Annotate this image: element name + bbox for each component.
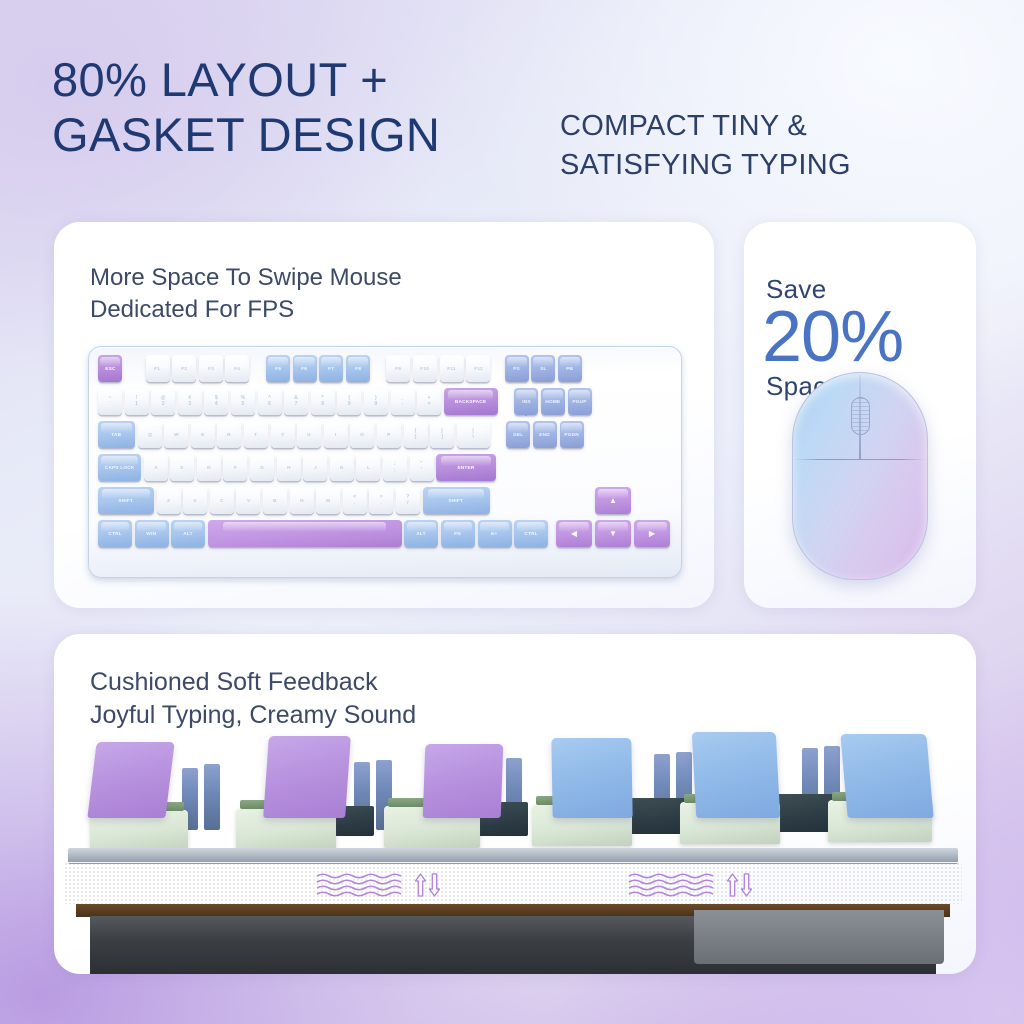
key-gap (492, 421, 506, 448)
key-ins[interactable]: INS (514, 388, 538, 415)
key-gap (372, 355, 386, 382)
key-legend: PS (513, 366, 520, 372)
key-legend: TAB (111, 432, 121, 438)
key-b[interactable]: B (263, 487, 287, 514)
arrow-up-icon: ▲ (609, 497, 617, 505)
key-f7[interactable]: F7 (319, 355, 343, 382)
key-alt[interactable]: ALT (171, 520, 205, 547)
save-percent-value: 20% (762, 307, 976, 369)
key-f10[interactable]: F10 (413, 355, 437, 382)
key-legend: R (228, 432, 232, 438)
key-legend: O (360, 432, 364, 438)
key-enter[interactable]: ENTER (436, 454, 496, 481)
key-legend: SHIFT (119, 498, 134, 504)
key-legend: &7 (294, 396, 298, 407)
keyboard-number-row: ~`!1@2#3$4%5^6&7*8(9)0_-+=BACKSPACEINSHO… (98, 388, 672, 415)
key-f11[interactable]: F11 (440, 355, 464, 382)
key-legend: >. (380, 495, 383, 506)
key-legend: E (201, 432, 204, 438)
key-legend: F12 (474, 366, 483, 372)
key-legend: D (207, 465, 211, 471)
key-legend: A (154, 465, 158, 471)
key-legend: ESC (105, 366, 115, 372)
key-f5[interactable]: F5 (266, 355, 290, 382)
key-k[interactable]: K (330, 454, 354, 481)
key-arrow-right[interactable]: ▶ (634, 520, 670, 547)
gasket-travel-arrows (414, 872, 441, 898)
key-i[interactable]: I (324, 421, 348, 448)
key-j[interactable]: J (303, 454, 327, 481)
key-esc[interactable]: ESC (98, 355, 122, 382)
key-legend: }] (441, 429, 443, 440)
key-ps[interactable]: PS (505, 355, 529, 382)
computer-mouse-icon (792, 372, 928, 580)
key-legend: W (174, 432, 179, 438)
keyboard-feature-card: More Space To Swipe Mouse Dedicated For … (54, 222, 714, 608)
keycap-purple-3 (423, 744, 504, 818)
key-legend: L (367, 465, 370, 471)
key-1[interactable]: !1 (125, 388, 149, 415)
key-legend: C (220, 498, 224, 504)
key-alt[interactable]: ALT (404, 520, 438, 547)
key-h[interactable]: H (277, 454, 301, 481)
keyboard-qwerty-row: TABQWERTYUIOP{[}]|\DELENDPGDN (98, 421, 672, 448)
key-legend: Z (167, 498, 170, 504)
key-blank[interactable]: }] (430, 421, 454, 448)
key-9[interactable]: (9 (337, 388, 361, 415)
key-5[interactable]: %5 (231, 388, 255, 415)
gasket-cushion-waves-icon (627, 872, 721, 898)
arrow-down-icon (428, 872, 441, 898)
key-blank[interactable]: "' (410, 454, 434, 481)
key-legend: F2 (181, 366, 187, 372)
key-pb[interactable]: PB (558, 355, 582, 382)
key-legend: V (247, 498, 250, 504)
key-l[interactable]: L (356, 454, 380, 481)
keycap-blue-2 (692, 732, 781, 818)
page-title: 80% LAYOUT + GASKET DESIGN (52, 52, 612, 163)
key-2[interactable]: @2 (151, 388, 175, 415)
key-legend: @2 (161, 396, 166, 407)
keycap-purple-1 (87, 742, 174, 818)
key-legend: CAPS LOCK (105, 465, 135, 471)
key-f12[interactable]: F12 (466, 355, 490, 382)
key-tab[interactable]: TAB (98, 421, 135, 448)
key-t[interactable]: T (244, 421, 268, 448)
key-legend: ALT (417, 531, 426, 537)
key-legend: ~` (108, 396, 111, 407)
key-legend: F3 (208, 366, 214, 372)
key-caps-lock[interactable]: CAPS LOCK (98, 454, 141, 481)
key-z[interactable]: Z (157, 487, 181, 514)
key-legend: (9 (348, 396, 351, 407)
key-legend: F9 (395, 366, 401, 372)
gasket-travel-arrows (726, 872, 753, 898)
keycap-grid: ESCF1F2F3F4F5F6F7F8F9F10F11F12PSSLPB~`!1… (98, 355, 672, 566)
key-blank[interactable]: <, (343, 487, 367, 514)
key-v[interactable]: V (236, 487, 260, 514)
key-legend: $4 (215, 396, 218, 407)
key-gap (252, 355, 266, 382)
key-win[interactable]: WIN (135, 520, 169, 547)
key-f1[interactable]: F1 (146, 355, 170, 382)
mouse-button-divider-horizontal (795, 459, 925, 460)
key-f6[interactable]: F6 (293, 355, 317, 382)
key-legend: F10 (421, 366, 430, 372)
key-n[interactable]: N (290, 487, 314, 514)
key-legend: ENTER (458, 465, 475, 471)
key-legend: BACKSPACE (455, 399, 486, 405)
key-legend: B (273, 498, 277, 504)
key-legend: X (193, 498, 196, 504)
subhead-line-1: COMPACT TINY & (560, 107, 980, 146)
gasket-indicator-right (624, 870, 756, 900)
key-legend: !1 (135, 396, 138, 407)
key-legend: CTRL (524, 531, 537, 537)
key-legend: F7 (328, 366, 334, 372)
gasket-cushion-waves-icon (315, 872, 409, 898)
key-3[interactable]: #3 (178, 388, 202, 415)
key-legend: ALT (183, 531, 192, 537)
key-blank[interactable]: :; (383, 454, 407, 481)
key-legend: N (300, 498, 304, 504)
key-arrow-up[interactable]: ▲ (595, 487, 631, 514)
key-backspace[interactable]: BACKSPACE (444, 388, 498, 415)
headline-line-2: GASKET DESIGN (52, 107, 612, 162)
key-legend: J (314, 465, 317, 471)
keycap-purple-2 (263, 736, 351, 818)
key-blank[interactable]: |\ (457, 421, 490, 448)
gasket-foam-layer (64, 862, 962, 904)
mouse-scroll-wheel-icon (851, 397, 870, 435)
key-r[interactable]: R (217, 421, 241, 448)
arrow-up-icon (414, 872, 427, 898)
key-legend: ^6 (268, 396, 271, 407)
keyboard-heading-line-1: More Space To Swipe Mouse (90, 262, 402, 294)
case-side-wall (694, 910, 944, 964)
key-legend: P (387, 432, 390, 438)
key-pgdn[interactable]: PGDN (560, 421, 584, 448)
key-legend: SL (540, 366, 546, 372)
key-legend: K (340, 465, 344, 471)
key-legend: {[ (414, 429, 416, 440)
key-blank[interactable]: ?/ (396, 487, 420, 514)
key-o[interactable]: O (350, 421, 374, 448)
key-f2[interactable]: F2 (172, 355, 196, 382)
key-8[interactable]: *8 (311, 388, 335, 415)
space-saving-card: Save 20% Space (744, 222, 976, 608)
key-legend: F5 (275, 366, 281, 372)
gasket-indicator-left (312, 870, 444, 900)
keyboard-home-row: CAPS LOCKASDFGHJKL:;"'ENTER (98, 454, 672, 481)
key-gap (125, 355, 146, 382)
key-gap (493, 355, 505, 382)
keyboard-image: ESCF1F2F3F4F5F6F7F8F9F10F11F12PSSLPB~`!1… (88, 346, 682, 578)
keyboard-heading-line-2: Dedicated For FPS (90, 294, 402, 326)
arrow-right-icon: ▶ (649, 530, 655, 538)
key-legend: Q (148, 432, 152, 438)
key-y[interactable]: Y (271, 421, 295, 448)
cross-section-illustration (54, 698, 976, 974)
key-blank[interactable] (208, 520, 402, 547)
switch-stem (204, 764, 220, 830)
key-gap (500, 388, 514, 415)
key-legend: %5 (241, 396, 246, 407)
key-legend: <, (353, 495, 356, 506)
key-legend: *8 (321, 396, 324, 407)
key-legend: F11 (447, 366, 456, 372)
key-legend: F6 (302, 366, 308, 372)
key-legend: WIN (147, 531, 157, 537)
key-blank[interactable]: ~` (98, 388, 122, 415)
key-legend: "' (420, 462, 423, 473)
key-ctrl[interactable]: CTRL (98, 520, 132, 547)
key-blank[interactable]: >. (369, 487, 393, 514)
keycap-blue-3 (840, 734, 933, 818)
key-blank[interactable]: _- (391, 388, 415, 415)
key-legend: :; (394, 462, 396, 473)
key-arrow-down[interactable]: ▼ (595, 520, 631, 547)
key-sl[interactable]: SL (531, 355, 555, 382)
key-legend: Y (281, 432, 284, 438)
key-f8[interactable]: F8 (346, 355, 370, 382)
poster-canvas: 80% LAYOUT + GASKET DESIGN COMPACT TINY … (0, 0, 1024, 1024)
key-legend: ?/ (406, 495, 409, 506)
key-f9[interactable]: F9 (386, 355, 410, 382)
key-legend: F (234, 465, 237, 471)
key-e[interactable]: E+ (478, 520, 512, 547)
key-legend: F1 (155, 366, 161, 372)
key-f3[interactable]: F3 (199, 355, 223, 382)
keycap-blue-1 (551, 738, 632, 818)
page-subtitle: COMPACT TINY & SATISFYING TYPING (560, 107, 980, 186)
key-legend: SHIFT (449, 498, 464, 504)
key-legend: M (326, 498, 330, 504)
key-legend: END (540, 432, 551, 438)
key-blank[interactable]: += (417, 388, 441, 415)
key-shift[interactable]: SHIFT (98, 487, 154, 514)
cross-heading-line-1: Cushioned Soft Feedback (90, 666, 416, 699)
headline-line-1: 80% LAYOUT + (52, 52, 612, 107)
key-legend: FN (455, 531, 462, 537)
key-legend: F8 (355, 366, 361, 372)
key-legend: )0 (374, 396, 377, 407)
key-7[interactable]: &7 (284, 388, 308, 415)
keyboard-function-row: ESCF1F2F3F4F5F6F7F8F9F10F11F12PSSLPB (98, 355, 672, 382)
key-legend: PGDN (564, 432, 578, 438)
key-ctrl[interactable]: CTRL (514, 520, 548, 547)
arrow-down-icon (740, 872, 753, 898)
arrow-up-icon (726, 872, 739, 898)
key-legend: U (307, 432, 311, 438)
key-del[interactable]: DEL (506, 421, 530, 448)
key-c[interactable]: C (210, 487, 234, 514)
key-legend: S (180, 465, 183, 471)
key-6[interactable]: ^6 (258, 388, 282, 415)
key-4[interactable]: $4 (204, 388, 228, 415)
key-legend: |\ (472, 429, 474, 440)
key-legend: PB (566, 366, 573, 372)
key-m[interactable]: M (316, 487, 340, 514)
key-legend: T (254, 432, 257, 438)
key-pgup[interactable]: PGUP (568, 388, 592, 415)
key-legend: E+ (491, 531, 497, 537)
key-legend: HOME (545, 399, 560, 405)
key-blank[interactable]: {[ (404, 421, 428, 448)
key-home[interactable]: HOME (541, 388, 565, 415)
key-legend: #3 (188, 396, 191, 407)
key-legend: PGUP (572, 399, 586, 405)
arrow-down-icon: ▼ (609, 530, 617, 538)
key-w[interactable]: W (164, 421, 188, 448)
key-legend: F4 (234, 366, 240, 372)
key-legend: I (335, 432, 337, 438)
key-0[interactable]: )0 (364, 388, 388, 415)
key-s[interactable]: S (170, 454, 194, 481)
key-legend: H (287, 465, 291, 471)
key-legend: _- (401, 396, 404, 407)
key-legend: INS (522, 399, 530, 405)
key-legend: += (428, 396, 431, 407)
key-legend: G (260, 465, 264, 471)
arrow-key-cluster: ▲◀▼▶ (556, 487, 676, 549)
key-g[interactable]: G (250, 454, 274, 481)
key-d[interactable]: D (197, 454, 221, 481)
subhead-line-2: SATISFYING TYPING (560, 146, 980, 185)
key-end[interactable]: END (533, 421, 557, 448)
key-shift[interactable]: SHIFT (423, 487, 490, 514)
gasket-cross-section-card: Cushioned Soft Feedback Joyful Typing, C… (54, 634, 976, 974)
key-f[interactable]: F (223, 454, 247, 481)
key-f4[interactable]: F4 (225, 355, 249, 382)
key-legend: DEL (513, 432, 523, 438)
keyboard-card-heading: More Space To Swipe Mouse Dedicated For … (90, 262, 402, 326)
key-a[interactable]: A (144, 454, 168, 481)
arrow-left-icon: ◀ (571, 530, 577, 538)
key-fn[interactable]: FN (441, 520, 475, 547)
key-e[interactable]: E (191, 421, 215, 448)
key-p[interactable]: P (377, 421, 401, 448)
key-arrow-left[interactable]: ◀ (556, 520, 592, 547)
key-x[interactable]: X (183, 487, 207, 514)
key-u[interactable]: U (297, 421, 321, 448)
key-q[interactable]: Q (138, 421, 162, 448)
key-legend: CTRL (108, 531, 121, 537)
